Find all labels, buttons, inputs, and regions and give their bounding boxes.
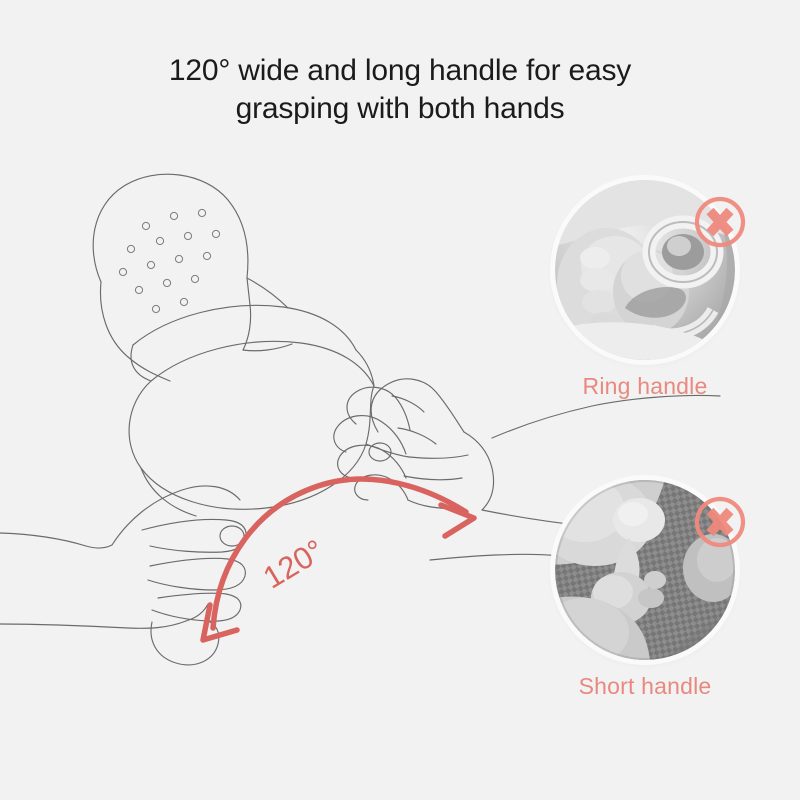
- x-mark-icon: [693, 495, 747, 549]
- x-mark-icon: [693, 195, 747, 249]
- infographic-canvas: 120° wide and long handle for easy grasp…: [0, 0, 800, 800]
- caption-ring-handle: Ring handle: [495, 373, 795, 400]
- angle-label: 120°: [257, 532, 330, 595]
- caption-short-handle: Short handle: [495, 673, 795, 700]
